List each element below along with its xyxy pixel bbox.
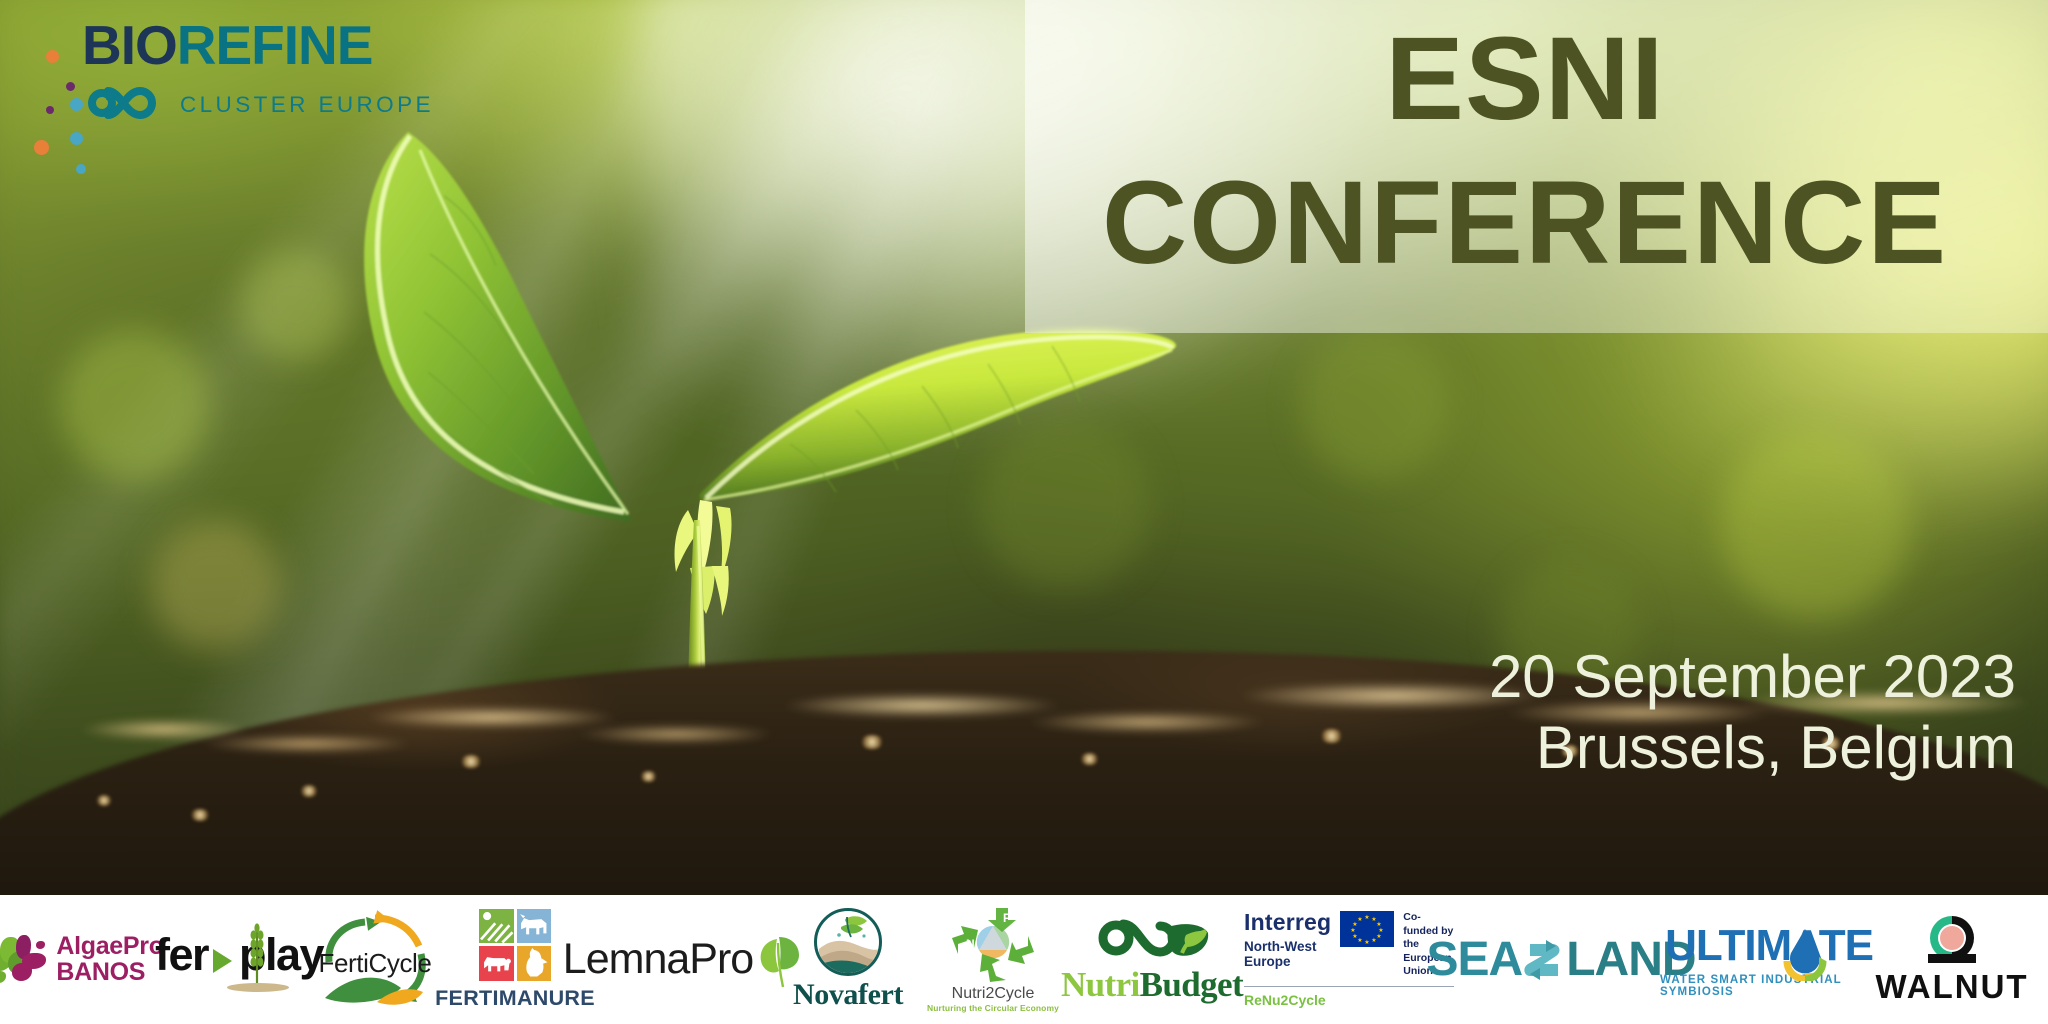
nutri2cycle-tagline: Nurturing the Circular Economy: [927, 1003, 1059, 1013]
walnut-lockup: WALNUT: [1875, 914, 2028, 1006]
nutribudget-word-nutri: Nutri: [1061, 965, 1140, 1004]
nutribudget-lockup: NutriBudget: [1061, 915, 1243, 1005]
dot: [46, 106, 54, 114]
wheat-stalk-icon: [250, 923, 260, 985]
esni-conference-banner: BIOREFINE CLUSTER EUROPE: [0, 0, 2048, 1024]
brand-subtitle: CLUSTER EUROPE: [180, 94, 434, 117]
title-line-2: CONFERENCE: [1025, 152, 2025, 296]
event-date: 20 September 2023: [1116, 642, 2016, 713]
novafert-wordmark: Novafert: [793, 978, 903, 1012]
algae-splatter-icon: [0, 933, 48, 987]
soil-sparkle: [96, 795, 112, 806]
partner-logo-ferticycle[interactable]: FertiCycle: [308, 895, 442, 1024]
algaepro-line-1: AlgaePro: [56, 934, 163, 960]
fertimanure-wordmark: FERTIMANURE: [435, 986, 595, 1011]
brand-wordmark: BIOREFINE: [82, 18, 378, 73]
nutri2cycle-wordmark: Nutri2Cycle: [952, 985, 1035, 1003]
dot: [66, 82, 75, 91]
leaf-right: [700, 329, 1176, 500]
dot: [46, 50, 59, 63]
partner-logo-lemnapro[interactable]: LemnaPro: [588, 895, 778, 1024]
ferplay-lockup: fer play: [155, 921, 303, 999]
circle-field-olive-branch-icon: [814, 908, 882, 976]
title-line-1: ESNI: [1025, 8, 2025, 152]
algaepro-lockup: AlgaePro BANOS: [0, 933, 164, 987]
partner-logo-algaepro-banos[interactable]: AlgaePro BANOS: [0, 895, 150, 1024]
algaepro-wordmark: AlgaePro BANOS: [56, 934, 163, 985]
sea2land-lockup: SEA LAND: [1427, 932, 1696, 987]
dot: [76, 164, 86, 174]
ultimate-wordmark: ULTIMATE: [1665, 921, 1873, 971]
event-location: Brussels, Belgium: [1116, 713, 2016, 784]
partner-logo-ultimate[interactable]: ULTIMATE WATER SMART INDUSTRIAL SYMBIOSI…: [1660, 895, 1878, 1024]
interreg-top-row: Interreg North-West Europe ★ ★ ★ ★ ★ ★ ★…: [1244, 911, 1454, 978]
soil-sparkle: [460, 755, 482, 768]
brand-second-row: CLUSTER EUROPE: [82, 81, 378, 130]
partner-logo-nutribudget[interactable]: NutriBudget: [1068, 895, 1236, 1024]
partner-logo-ferplay[interactable]: fer play: [150, 895, 308, 1024]
brand-word-refine: REFINE: [177, 14, 373, 76]
biorefine-cluster-europe-logo[interactable]: BIOREFINE CLUSTER EUROPE: [18, 18, 378, 128]
nutribudget-word-budget: Budget: [1140, 965, 1243, 1004]
interreg-names: Interreg North-West Europe: [1244, 911, 1331, 969]
eu-flag-icon: ★ ★ ★ ★ ★ ★ ★ ★ ★ ★ ★ ★: [1340, 911, 1394, 947]
water-drop-arrows-icon: [1783, 927, 1823, 979]
ferticycle-lockup: FertiCycle: [309, 908, 441, 1012]
loop-leaf-icon: [1090, 915, 1214, 965]
partner-logo-sea2land[interactable]: SEA LAND: [1462, 895, 1660, 1024]
dot: [34, 140, 49, 155]
partner-logo-walnut[interactable]: WALNUT: [1878, 895, 2026, 1024]
decorative-dots: [18, 40, 98, 150]
nutribudget-wordmark: NutriBudget: [1061, 965, 1243, 1005]
soil-sparkle: [190, 809, 210, 821]
ultimate-wordmark-row: ULTIMATE: [1665, 921, 1873, 971]
partner-logo-nutri2cycle[interactable]: P N C Nutri2Cycle Nurturing the Circular…: [918, 895, 1068, 1024]
ultimate-tagline: WATER SMART INDUSTRIAL SYMBIOSIS: [1660, 974, 1878, 998]
ferplay-word-fer: fer: [155, 929, 208, 981]
soil-line-icon: [227, 983, 289, 992]
play-triangle-icon: [213, 949, 232, 973]
ferticycle-wordmark: FertiCycle: [309, 948, 441, 979]
ultimate-lockup: ULTIMATE WATER SMART INDUSTRIAL SYMBIOSI…: [1660, 921, 1878, 998]
sea2land-word-sea: SEA: [1427, 932, 1523, 987]
ring-circle-icon: [1915, 914, 1989, 966]
lemnapro-wordmark: LemnaPro: [563, 935, 753, 984]
algaepro-line-2: BANOS: [56, 960, 163, 986]
recycle-two-icon: [1522, 936, 1566, 984]
dot: [70, 132, 83, 145]
recycle-arrows-npc-icon: P N C: [950, 906, 1036, 984]
soil-sparkle: [300, 785, 318, 797]
interreg-wordmark: Interreg: [1244, 911, 1331, 934]
soil-sparkle: [640, 771, 657, 782]
recycle-letter-p: P: [1003, 911, 1011, 925]
recycle-letter-n: N: [966, 937, 975, 951]
interreg-lockup: Interreg North-West Europe ★ ★ ★ ★ ★ ★ ★…: [1244, 911, 1454, 1007]
partner-logo-strip: AlgaePro BANOS fer play: [0, 895, 2048, 1024]
page-title: ESNI CONFERENCE: [1025, 8, 2025, 296]
novafert-lockup: Novafert: [793, 908, 903, 1012]
walnut-wordmark: WALNUT: [1875, 968, 2028, 1006]
recycle-letter-c: C: [994, 963, 1003, 977]
nutri2cycle-lockup: P N C Nutri2Cycle Nurturing the Circular…: [927, 906, 1059, 1013]
green-leaf-icon: [757, 931, 803, 989]
interreg-project-name: ReNu2Cycle: [1244, 992, 1454, 1008]
soil-sparkle: [860, 735, 884, 749]
divider: [1244, 986, 1454, 987]
event-details: 20 September 2023 Brussels, Belgium: [1116, 642, 2016, 784]
four-quadrant-livestock-icon: [479, 909, 551, 981]
interreg-programme-area: North-West Europe: [1244, 939, 1331, 969]
lemnapro-lockup: LemnaPro: [563, 931, 803, 989]
hero-photo: BIOREFINE CLUSTER EUROPE: [0, 0, 2048, 895]
soil-sparkle: [1080, 753, 1099, 765]
dot: [70, 98, 83, 111]
